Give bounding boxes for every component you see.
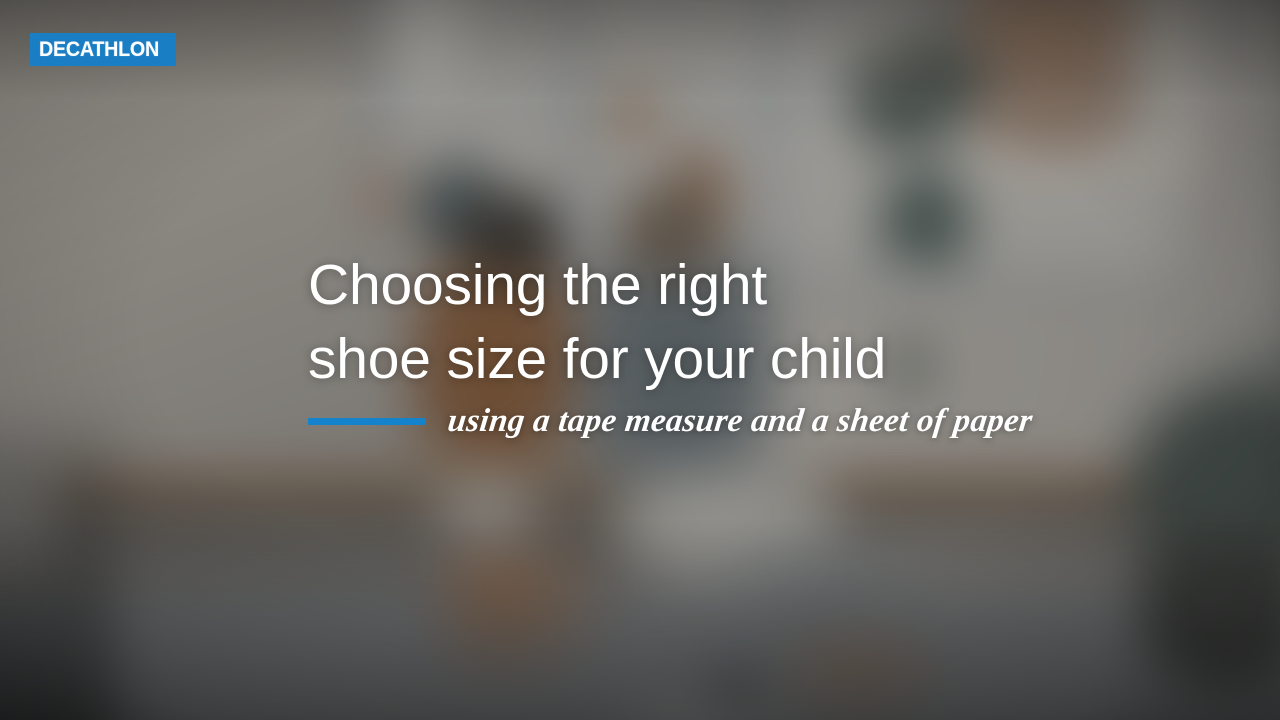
decathlon-logo[interactable]: DECATHLON [30, 33, 176, 66]
subtitle-row: using a tape measure and a sheet of pape… [308, 404, 1032, 439]
subtitle-script-text: using a tape measure and a sheet of pape… [446, 404, 1035, 439]
title-line-1: Choosing the right [308, 248, 1188, 322]
title-block: Choosing the right shoe size for your ch… [308, 248, 1188, 396]
title-line-2: shoe size for your child [308, 322, 1188, 396]
video-title-card: DECATHLON Choosing the right shoe size f… [0, 0, 1280, 720]
decathlon-wordmark: DECATHLON [39, 39, 159, 60]
blue-rule-accent [308, 418, 426, 425]
